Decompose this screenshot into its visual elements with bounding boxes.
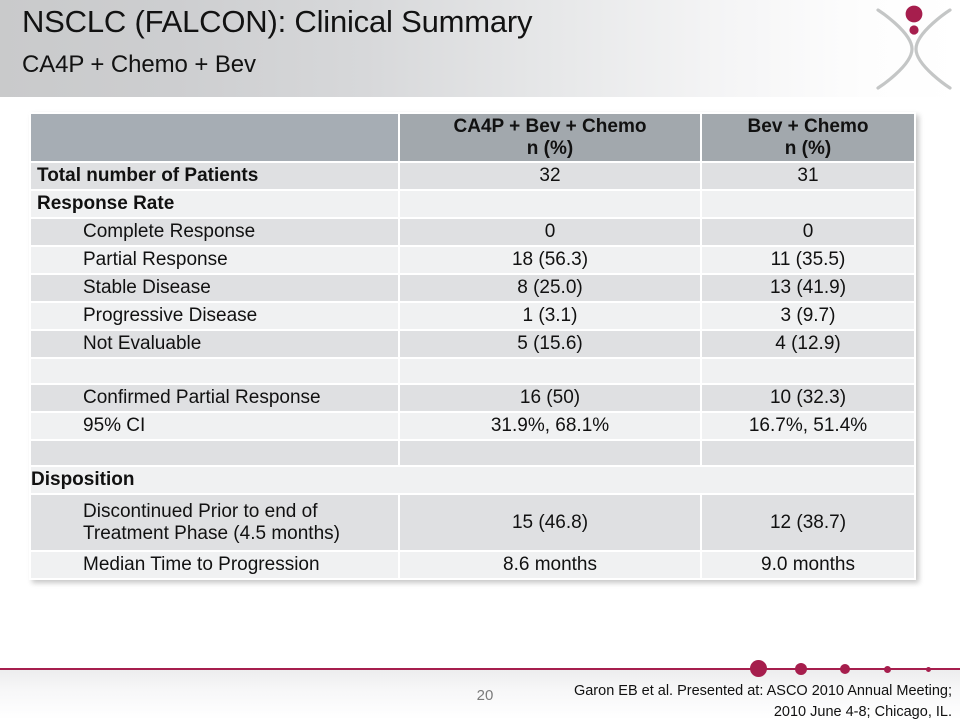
row-label [31, 441, 398, 465]
header-cell-blank [31, 114, 398, 161]
clinical-summary-table: CA4P + Bev + Chemo n (%) Bev + Chemo n (… [29, 112, 916, 580]
row-value-arm-1: 32 [400, 163, 700, 189]
footer-dot-5 [926, 667, 931, 672]
row-value-arm-1: 1 (3.1) [400, 303, 700, 329]
footer-dot-4 [884, 666, 891, 673]
row-value-arm-2 [702, 359, 914, 383]
table-row: Discontinued Prior to end of Treatment P… [31, 495, 914, 550]
table-row: 95% CI31.9%, 68.1%16.7%, 51.4% [31, 413, 914, 439]
header-arm-1-label: CA4P + Bev + Chemo [454, 116, 647, 137]
row-value-arm-1: 18 (56.3) [400, 247, 700, 273]
slide-header: NSCLC (FALCON): Clinical Summary CA4P + … [0, 0, 960, 97]
row-label: Progressive Disease [31, 303, 398, 329]
row-label: Median Time to Progression [31, 552, 398, 578]
table-row: Response Rate [31, 191, 914, 217]
table-row: Partial Response18 (56.3)11 (35.5) [31, 247, 914, 273]
footer-dot-3 [840, 664, 850, 674]
table-body: Total number of Patients3231Response Rat… [31, 163, 914, 578]
row-value-arm-2: 16.7%, 51.4% [702, 413, 914, 439]
row-value-arm-1: 8.6 months [400, 552, 700, 578]
table-row: Complete Response00 [31, 219, 914, 245]
citation-line-2: 2010 June 4-8; Chicago, IL. [774, 704, 952, 720]
row-label: Response Rate [31, 191, 398, 217]
row-label: Not Evaluable [31, 331, 398, 357]
table-head: CA4P + Bev + Chemo n (%) Bev + Chemo n (… [31, 114, 914, 161]
hourglass-figure-logo [868, 2, 960, 96]
page-number: 20 [455, 687, 515, 704]
row-value-arm-2: 31 [702, 163, 914, 189]
row-label: Total number of Patients [31, 163, 398, 189]
row-value-arm-2: 9.0 months [702, 552, 914, 578]
row-label: Complete Response [31, 219, 398, 245]
table-row: Confirmed Partial Response16 (50)10 (32.… [31, 385, 914, 411]
clinical-summary-table-wrap: CA4P + Bev + Chemo n (%) Bev + Chemo n (… [29, 112, 916, 580]
header-arm-2-sub: n (%) [702, 138, 914, 159]
row-value-arm-1: 8 (25.0) [400, 275, 700, 301]
footer-dot-2 [795, 663, 807, 675]
row-value-arm-2: 10 (32.3) [702, 385, 914, 411]
row-value-arm-2 [702, 191, 914, 217]
row-label: Partial Response [31, 247, 398, 273]
table-row: Median Time to Progression8.6 months9.0 … [31, 552, 914, 578]
table-row: Total number of Patients3231 [31, 163, 914, 189]
table-row [31, 441, 914, 465]
page-subtitle: CA4P + Chemo + Bev [22, 51, 256, 79]
row-value-arm-1 [400, 441, 700, 465]
row-label: Discontinued Prior to end of Treatment P… [31, 495, 398, 550]
row-value-arm-1: 15 (46.8) [400, 495, 700, 550]
row-value-arm-2 [702, 441, 914, 465]
row-label: 95% CI [31, 413, 398, 439]
row-value-arm-1: 0 [400, 219, 700, 245]
table-row: Not Evaluable5 (15.6)4 (12.9) [31, 331, 914, 357]
row-value-arm-1: 31.9%, 68.1% [400, 413, 700, 439]
row-value-arm-1: 5 (15.6) [400, 331, 700, 357]
row-label [31, 359, 398, 383]
row-value-arm-2: 13 (41.9) [702, 275, 914, 301]
header-arm-1-sub: n (%) [400, 138, 700, 159]
header-arm-2-label: Bev + Chemo [748, 116, 869, 137]
table-row [31, 359, 914, 383]
table-section-heading: Disposition [31, 467, 914, 493]
table-row: Stable Disease8 (25.0)13 (41.9) [31, 275, 914, 301]
citation-line-1: Garon EB et al. Presented at: ASCO 2010 … [574, 683, 952, 699]
header-cell-arm-1: CA4P + Bev + Chemo n (%) [400, 114, 700, 161]
row-value-arm-1 [400, 191, 700, 217]
row-value-arm-2: 3 (9.7) [702, 303, 914, 329]
row-value-arm-2: 12 (38.7) [702, 495, 914, 550]
table-row: Disposition [31, 467, 914, 493]
header-cell-arm-2: Bev + Chemo n (%) [702, 114, 914, 161]
footer-dot-1 [750, 660, 767, 677]
table-row: Progressive Disease1 (3.1)3 (9.7) [31, 303, 914, 329]
row-value-arm-2: 4 (12.9) [702, 331, 914, 357]
row-value-arm-2: 11 (35.5) [702, 247, 914, 273]
table-header-row: CA4P + Bev + Chemo n (%) Bev + Chemo n (… [31, 114, 914, 161]
row-label: Stable Disease [31, 275, 398, 301]
row-value-arm-1 [400, 359, 700, 383]
page-title: NSCLC (FALCON): Clinical Summary [22, 4, 532, 40]
row-label: Confirmed Partial Response [31, 385, 398, 411]
row-value-arm-2: 0 [702, 219, 914, 245]
citation: Garon EB et al. Presented at: ASCO 2010 … [560, 681, 952, 722]
row-value-arm-1: 16 (50) [400, 385, 700, 411]
